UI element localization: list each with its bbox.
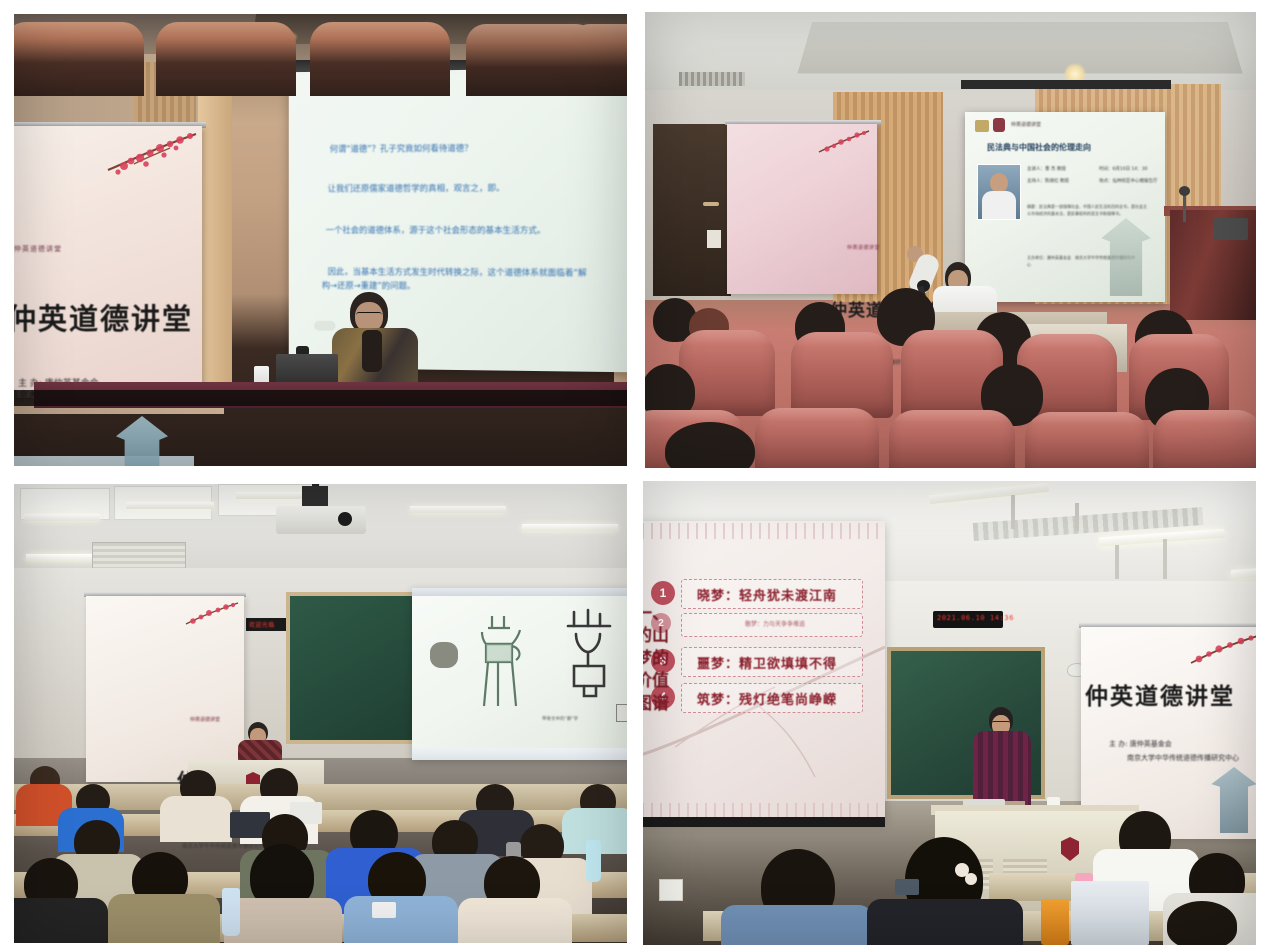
photo-bottom-right: 1 2 3 4 晓梦：轻舟犹未渡江南 憨梦：力与天争争难追 噩梦：精卫欲填填不得… xyxy=(643,481,1256,945)
slide-item-text: 晓梦：轻舟犹未渡江南 xyxy=(697,585,837,604)
auditorium-chair xyxy=(14,22,144,96)
photo-top-left: 仲英道德讲堂 仲英道德讲堂 主 办: 唐仲英基金会 南京大学中华传统道德传播研究… xyxy=(14,14,627,466)
shadow-band xyxy=(14,390,627,406)
student-body xyxy=(160,796,232,842)
auditorium-chair xyxy=(156,22,296,96)
theatre-seat xyxy=(791,332,893,418)
lecture-banner: 仲英道德讲堂 仲英道德讲堂 主 办: 唐仲英基金会 南京大学中华传统道德传播研究… xyxy=(14,126,202,398)
hanger-rod xyxy=(1075,503,1079,531)
plum-blossom-icon xyxy=(104,128,200,188)
ceiling-lamp-icon xyxy=(24,514,100,521)
photo-top-right: 仲英道德讲堂 仲英道德讲堂 主 办: 唐仲英基金会 南京大学中华传统道德传播研究… xyxy=(645,12,1256,468)
student-head xyxy=(1167,901,1237,945)
slide-left-column: 一、 的山 梦的 价值 图谱 xyxy=(643,603,677,715)
slide-line-1: 何谓“道德”？孔子究竟如何看待道德？ xyxy=(330,142,473,155)
speaker-portrait xyxy=(977,164,1021,220)
portrait-head xyxy=(990,173,1008,193)
theatre-seat xyxy=(755,408,879,468)
hair-clip-icon xyxy=(965,873,977,885)
led-sign-text: 欢迎光临 xyxy=(249,620,275,629)
student-body xyxy=(14,898,108,943)
plum-blossom-icon xyxy=(184,600,240,634)
ceiling-lamp-icon xyxy=(410,506,506,513)
glasses-icon xyxy=(356,312,382,319)
water-bottle xyxy=(586,840,601,882)
auditorium-chair xyxy=(310,22,450,96)
door[interactable] xyxy=(653,124,731,296)
ceiling-projector xyxy=(276,506,366,534)
theatre-seat xyxy=(1025,412,1149,468)
thermos xyxy=(1041,899,1069,945)
hanger-rod xyxy=(1011,495,1015,529)
smartphone xyxy=(895,879,919,895)
microphone-icon xyxy=(1179,186,1190,196)
bronze-vessel-icon xyxy=(474,610,530,714)
screen-top-bar xyxy=(961,80,1171,89)
slide-time-line: 时间：6月10日 14：30 xyxy=(1099,166,1147,172)
led-clock-text: 2021.06.10 14:36 xyxy=(937,614,1014,622)
banner-header-small: 仲英道德讲堂 xyxy=(14,244,62,254)
front-chair-row xyxy=(14,14,627,94)
speaker-scarf xyxy=(362,330,382,372)
wall-socket-icon xyxy=(659,879,683,901)
taskbar xyxy=(412,748,627,760)
lecturer-body xyxy=(973,731,1031,807)
banner-center-line: 南京大学中华传统道德传播研究中心 xyxy=(1127,753,1239,763)
door-handle-icon[interactable] xyxy=(703,202,719,206)
theatre-seat xyxy=(889,410,1015,468)
student-body xyxy=(224,898,342,943)
ceiling-lamp-icon xyxy=(26,554,100,561)
ceiling-panel xyxy=(797,22,1242,73)
foundation-logo-icon xyxy=(975,120,989,132)
ceiling-lamp-icon xyxy=(522,524,618,531)
screen-bottom-bar xyxy=(643,817,885,827)
window-chrome-bar xyxy=(412,588,627,596)
projector-lens-icon xyxy=(338,512,352,526)
seal-stamp-icon xyxy=(616,704,627,722)
slide-item-text: 憨梦：力与天争争难追 xyxy=(745,619,805,628)
slide-item-number: 1 xyxy=(651,581,675,605)
banner-organizer-line: 主 办: 唐仲英基金会 xyxy=(1109,739,1172,749)
slide-line-5: 构→还原→重建”的问题。 xyxy=(322,279,416,291)
bronze-detail-photo xyxy=(430,642,458,668)
laptop xyxy=(1071,881,1149,945)
laptop xyxy=(1214,218,1248,240)
light-switch-icon[interactable] xyxy=(707,230,721,248)
photo-collage: 仲英道德讲堂 仲英道德讲堂 主 办: 唐仲英基金会 南京大学中华传统道德传播研究… xyxy=(0,0,1269,952)
student-body xyxy=(108,894,220,943)
water-bottle xyxy=(222,888,240,936)
slide-title: 民法典与中国社会的伦理走向 xyxy=(987,142,1091,153)
slide-line-4: 因此，当基本生活方式发生时代转换之际，这个道德体系就面临着“解 xyxy=(328,265,587,278)
slide-line-2: 让我们还原儒家道德哲学的真相，观言之，即。 xyxy=(328,182,505,194)
slide-top-border xyxy=(643,523,885,539)
student-body xyxy=(721,905,873,945)
slide-item-text: 噩梦：精卫欲填填不得 xyxy=(697,653,837,672)
lecture-banner: 仲英道德讲堂 仲英道德讲堂 主 办: 唐仲英基金会 南京大学中华传统道德传播研究… xyxy=(727,124,877,294)
theatre-seat xyxy=(1153,410,1256,468)
banner-header-small: 仲英道德讲堂 xyxy=(190,716,220,723)
slide-place-line: 地点：仙林校区中心楼报告厅 xyxy=(1099,178,1158,184)
ceiling-lamp-icon xyxy=(1231,568,1256,579)
banner-title: 仲英道德讲堂 xyxy=(14,296,200,338)
student-body xyxy=(458,898,572,943)
banner-header-small: 仲英道德讲堂 xyxy=(847,244,880,251)
hanger-rod xyxy=(1163,539,1167,579)
plum-blossom-icon xyxy=(817,128,871,162)
hanger-rod xyxy=(1115,545,1119,579)
lecture-banner: 仲英道德讲堂 仲英道德讲堂 主 办: 唐仲英基金会 南京大学中华传统道德传播研究… xyxy=(86,596,244,782)
auditorium-chair xyxy=(570,24,627,96)
banner-title: 仲英道德讲堂 xyxy=(1085,677,1256,711)
ceiling-lamp-icon xyxy=(126,502,214,509)
projection-screen: 仲英道德讲堂 何谓“道德”？孔子究竟如何看待道德？ 让我们还原儒家道德哲学的真相… xyxy=(289,68,627,373)
pagoda-icon xyxy=(1207,767,1256,833)
slide-host-line: 主持人：陈继红 教授 xyxy=(1027,178,1069,184)
slide-caption: 甲骨文中的“爵”字 xyxy=(542,716,578,722)
student-body xyxy=(344,896,458,943)
banner-water-artwork xyxy=(14,456,194,466)
slide-line-3: 一个社会的道德体系，源于这个社会形态的基本生活方式。 xyxy=(326,224,546,236)
slide-abstract: 摘要：民法典是一部保障社会、中国人民生活的百科全书，是社会主义市场经济的基本法，… xyxy=(1027,204,1147,218)
oracle-bone-character-icon xyxy=(562,608,618,704)
glasses-icon xyxy=(992,721,1010,727)
slide-item-text: 筑梦：残灯绝笔尚峥嵘 xyxy=(697,689,837,708)
wall-pilaster xyxy=(198,56,232,396)
university-crest-icon xyxy=(993,118,1005,132)
slide-speaker-line: 主讲人：曹 杰 教授 xyxy=(1027,166,1066,172)
slide-header: 仲英道德讲堂 xyxy=(1011,121,1041,128)
plum-blossom-icon xyxy=(1189,631,1256,675)
projection-screen: 甲骨文中的“爵”字 xyxy=(412,588,627,760)
student-body xyxy=(867,899,1023,945)
photo-bottom-left: 欢迎光临 仲英道德讲堂 仲英道德讲堂 主 办: 唐仲英基金会 南京大学中华传统道… xyxy=(14,484,627,943)
projection-screen: 1 2 3 4 晓梦：轻舟犹未渡江南 憨梦：力与天争争难追 噩梦：精卫欲填填不得… xyxy=(643,521,885,821)
slide-page-badge xyxy=(314,321,335,331)
microphone-stand xyxy=(1183,192,1186,222)
smartphone xyxy=(372,902,396,918)
air-vent-icon xyxy=(679,72,745,86)
projection-screen: 仲英道德讲堂 民法典与中国社会的伦理走向 主讲人：曹 杰 教授 主持人：陈继红 … xyxy=(965,112,1165,302)
portrait-body xyxy=(982,191,1016,219)
